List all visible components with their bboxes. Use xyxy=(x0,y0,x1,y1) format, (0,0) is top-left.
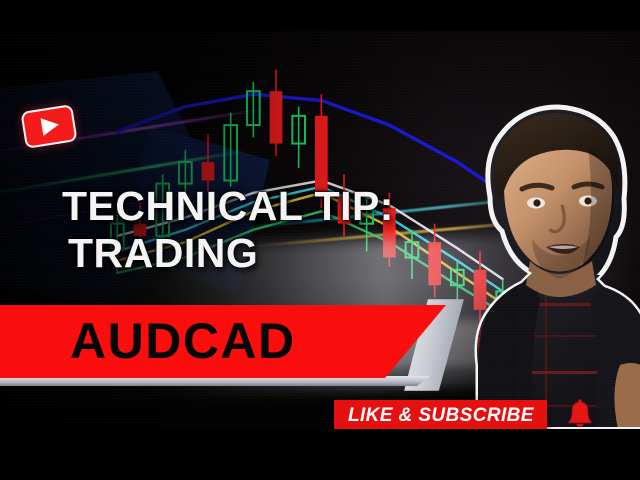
headline-line-2: TRADING xyxy=(62,230,394,277)
candle-body xyxy=(202,162,215,180)
currency-pair-banner: AUDCAD xyxy=(0,305,446,378)
video-frame: TECHNICAL TIP: TRADING xyxy=(0,0,640,480)
like-and-subscribe-label: LIKE & SUBSCRIBE xyxy=(348,405,534,427)
candle-body xyxy=(270,91,283,143)
presenter-silhouette xyxy=(382,35,640,429)
presenter-hand xyxy=(614,363,640,429)
bell-icon[interactable] xyxy=(565,399,595,429)
currency-pair-label: AUDCAD xyxy=(70,315,296,368)
video-content-area: TECHNICAL TIP: TRADING xyxy=(0,31,640,429)
letterbox-bar-bottom xyxy=(0,429,640,480)
presenter-cutout xyxy=(382,35,640,429)
headline-text: TECHNICAL TIP: TRADING xyxy=(62,183,394,277)
headline-line-1: TECHNICAL TIP: xyxy=(62,183,394,229)
like-and-subscribe-badge[interactable]: LIKE & SUBSCRIBE xyxy=(334,400,547,429)
letterbox-bar-top xyxy=(0,0,640,31)
play-triangle-icon xyxy=(41,116,61,136)
